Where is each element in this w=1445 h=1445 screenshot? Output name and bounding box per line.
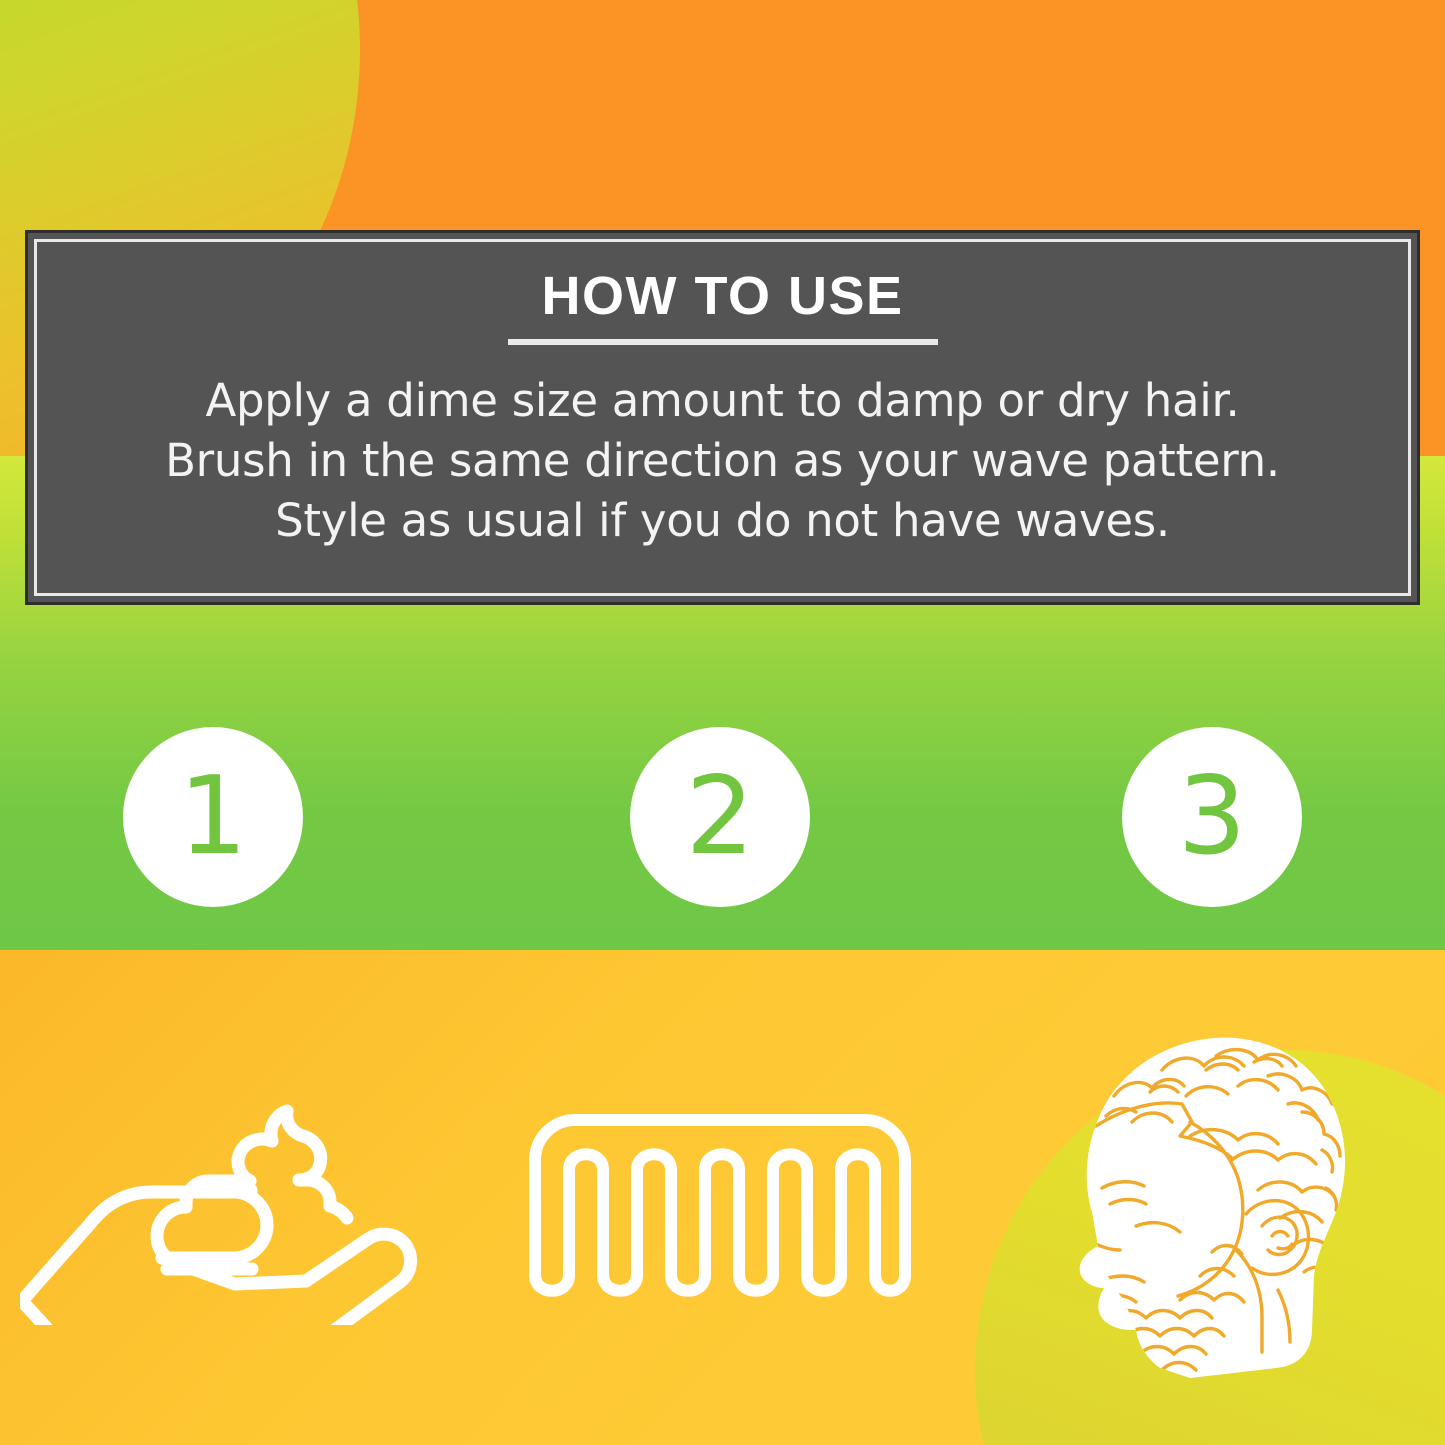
instruction-line-1: Apply a dime size amount to damp or dry … <box>165 371 1280 431</box>
title-underline-rule <box>508 339 938 345</box>
step-number-label-3: 3 <box>1178 763 1247 871</box>
step-number-label-2: 2 <box>686 763 755 871</box>
hand-with-product-icon <box>20 1055 420 1325</box>
how-to-use-panel: HOW TO USE Apply a dime size amount to d… <box>25 230 1420 605</box>
how-to-use-title: HOW TO USE <box>541 268 903 325</box>
instruction-line-2: Brush in the same direction as your wave… <box>165 431 1280 491</box>
man-head-waves-icon <box>1040 1000 1400 1390</box>
step-number-badge-2: 2 <box>630 727 810 907</box>
infographic-canvas: HOW TO USE Apply a dime size amount to d… <box>0 0 1445 1445</box>
instruction-line-3: Style as usual if you do not have waves. <box>165 491 1280 551</box>
step-number-label-1: 1 <box>179 763 248 871</box>
step-number-badge-1: 1 <box>123 727 303 907</box>
how-to-use-instructions: Apply a dime size amount to damp or dry … <box>165 371 1280 552</box>
how-to-use-panel-inner: HOW TO USE Apply a dime size amount to d… <box>34 239 1411 596</box>
comb-icon <box>505 1100 935 1315</box>
step-number-badge-3: 3 <box>1122 727 1302 907</box>
